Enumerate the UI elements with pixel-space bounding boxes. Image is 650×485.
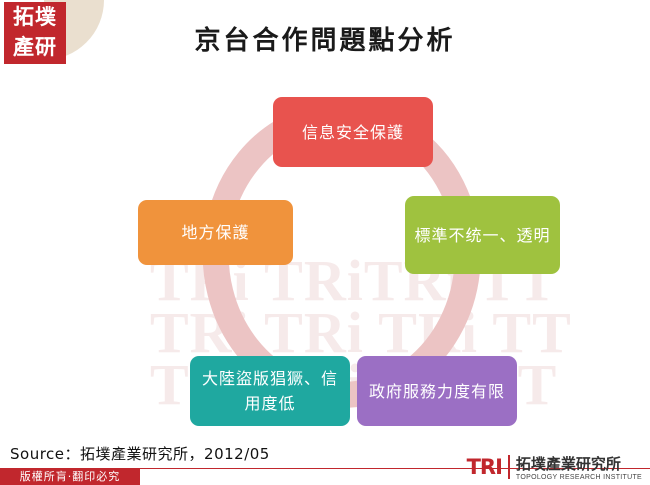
footer-copyright: 版權所肓‧翻印必究 (0, 469, 140, 485)
node-standard[interactable]: 標準不统一、透明 (405, 196, 560, 274)
logo-characters: 拓墣 產研 (4, 2, 66, 64)
footer-brand-names: 拓墣產業研究所 TOPOLOGY RESEARCH INSTITUTE (516, 453, 642, 481)
tri-logo: 拓墣 產研 (0, 0, 72, 72)
node-piracy[interactable]: 大陸盜版猖獗、信用度低 (190, 356, 350, 426)
node-info-security[interactable]: 信息安全保護 (273, 97, 433, 167)
footer-brand-en: TOPOLOGY RESEARCH INSTITUTE (516, 474, 642, 481)
footer-brand-cn: 拓墣產業研究所 (516, 453, 642, 474)
footer-brand-divider (508, 455, 510, 479)
node-local-protection[interactable]: 地方保護 (138, 200, 293, 265)
source-note: Source：拓墣產業研究所，2012/05 (10, 443, 270, 464)
footer-brand-mark: TRI (467, 455, 502, 479)
slide-canvas: TRi TRiTRi TT TRi TRi TRi TT TRi TRiTRi … (0, 0, 650, 485)
footer-brand-logo: TRI 拓墣產業研究所 TOPOLOGY RESEARCH INSTITUTE (467, 452, 642, 482)
node-government-service[interactable]: 政府服務力度有限 (357, 356, 517, 426)
